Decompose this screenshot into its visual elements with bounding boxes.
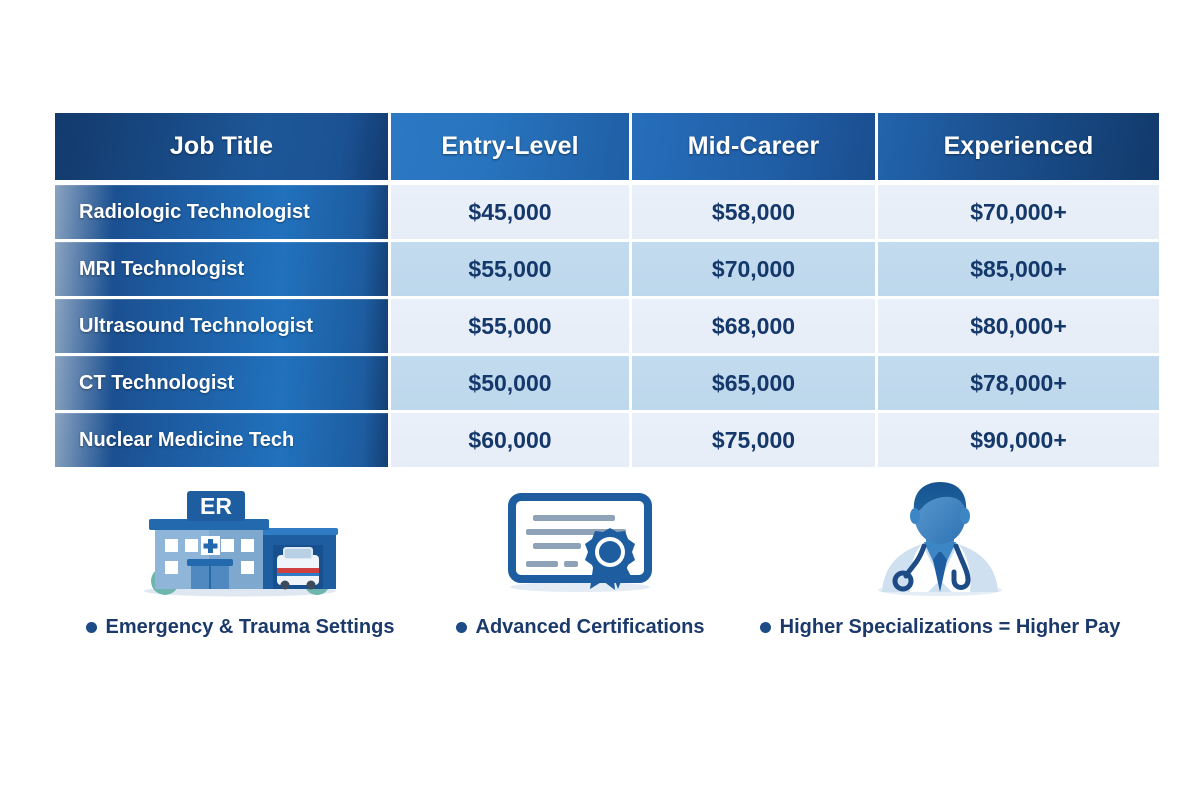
bullet-icon [456, 622, 467, 633]
row-entry-level-value: $50,000 [391, 356, 629, 410]
infographic-page: Job Title Entry-Level Mid-Career Experie… [0, 0, 1200, 800]
table-row: Ultrasound Technologist $55,000 $68,000 … [55, 299, 1150, 353]
row-job-title: CT Technologist [55, 356, 388, 410]
row-experienced-value: $70,000+ [878, 185, 1159, 239]
row-job-title: Nuclear Medicine Tech [55, 413, 388, 467]
row-job-title: Radiologic Technologist [55, 185, 388, 239]
row-mid-career-value: $65,000 [632, 356, 875, 410]
column-header-mid-career: Mid-Career [632, 113, 875, 180]
feature-item-emergency: ER [60, 478, 420, 639]
feature-caption-emergency: Emergency & Trauma Settings [86, 616, 395, 639]
table-row: CT Technologist $50,000 $65,000 $78,000+ [55, 356, 1150, 410]
feature-caption-specializations: Higher Specializations = Higher Pay [760, 616, 1121, 639]
row-entry-level-value: $45,000 [391, 185, 629, 239]
row-mid-career-value: $68,000 [632, 299, 875, 353]
row-experienced-value: $85,000+ [878, 242, 1159, 296]
feature-highlights: ER [60, 478, 1145, 639]
row-entry-level-value: $60,000 [391, 413, 629, 467]
row-job-title: Ultrasound Technologist [55, 299, 388, 353]
feature-caption-text: Emergency & Trauma Settings [106, 616, 395, 639]
row-entry-level-value: $55,000 [391, 299, 629, 353]
er-sign-text: ER [200, 493, 232, 519]
salary-table: Job Title Entry-Level Mid-Career Experie… [55, 113, 1150, 467]
row-experienced-value: $78,000+ [878, 356, 1159, 410]
row-mid-career-value: $70,000 [632, 242, 875, 296]
column-header-job-title: Job Title [55, 113, 388, 180]
row-mid-career-value: $58,000 [632, 185, 875, 239]
table-row: Radiologic Technologist $45,000 $58,000 … [55, 185, 1150, 239]
row-mid-career-value: $75,000 [632, 413, 875, 467]
column-header-experienced: Experienced [878, 113, 1159, 180]
bullet-icon [760, 622, 771, 633]
table-header-row: Job Title Entry-Level Mid-Career Experie… [55, 113, 1150, 180]
row-experienced-value: $80,000+ [878, 299, 1159, 353]
doctor-stethoscope-icon [860, 478, 1020, 598]
table-row: MRI Technologist $55,000 $70,000 $85,000… [55, 242, 1150, 296]
table-row: Nuclear Medicine Tech $60,000 $75,000 $9… [55, 413, 1150, 467]
feature-caption-text: Higher Specializations = Higher Pay [780, 616, 1121, 639]
row-job-title: MRI Technologist [55, 242, 388, 296]
row-entry-level-value: $55,000 [391, 242, 629, 296]
feature-caption-text: Advanced Certifications [476, 616, 705, 639]
feature-item-certifications: Advanced Certifications [420, 478, 740, 639]
hospital-emergency-icon: ER [133, 478, 348, 598]
feature-item-specializations: Higher Specializations = Higher Pay [740, 478, 1140, 639]
column-header-entry-level: Entry-Level [391, 113, 629, 180]
bullet-icon [86, 622, 97, 633]
feature-caption-certifications: Advanced Certifications [456, 616, 705, 639]
row-experienced-value: $90,000+ [878, 413, 1159, 467]
certificate-award-icon [490, 478, 670, 598]
